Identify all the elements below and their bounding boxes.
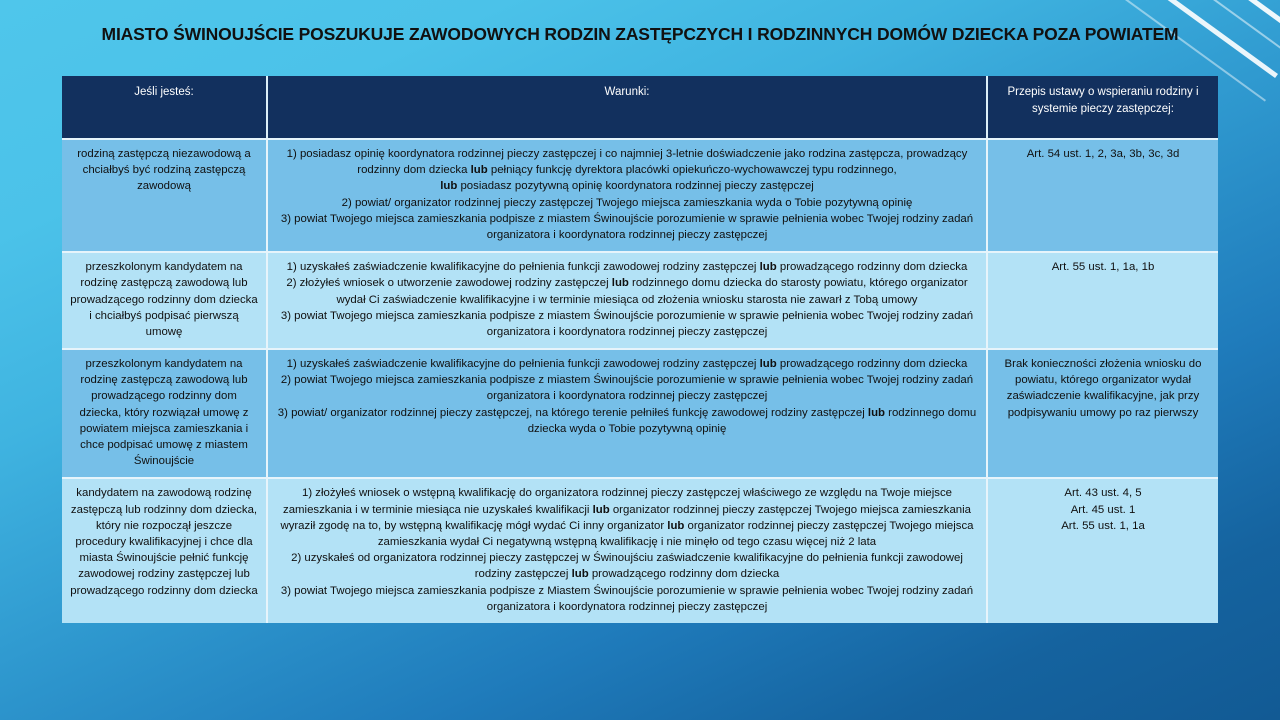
conditions-table: Jeśli jesteś: Warunki: Przepis ustawy o … (62, 76, 1218, 623)
table-body: rodziną zastępczą niezawodową a chciałby… (62, 138, 1218, 623)
condition-item: 3) powiat/ organizator rodzinnej pieczy … (276, 405, 978, 437)
condition-item: 2) powiat/ organizator rodzinnej pieczy … (276, 195, 978, 211)
condition-item: 3) powiat Twojego miejsca zamieszkania p… (276, 308, 978, 340)
cell-conditions: 1) uzyskałeś zaświadczenie kwalifikacyjn… (268, 348, 988, 477)
law-reference-line: Art. 55 ust. 1, 1a (996, 518, 1210, 534)
table-header: Jeśli jesteś: Warunki: Przepis ustawy o … (62, 76, 1218, 138)
condition-item: 1) uzyskałeś zaświadczenie kwalifikacyjn… (276, 259, 978, 275)
table-row: rodziną zastępczą niezawodową a chciałby… (62, 138, 1218, 251)
cell-who: przeszkolonym kandydatem na rodzinę zast… (62, 251, 268, 348)
table-row: przeszkolonym kandydatem na rodzinę zast… (62, 251, 1218, 348)
condition-item: 2) powiat Twojego miejsca zamieszkania p… (276, 372, 978, 404)
cell-who: rodziną zastępczą niezawodową a chciałby… (62, 138, 268, 251)
table-row: kandydatem na zawodową rodzinę zastępczą… (62, 477, 1218, 623)
cell-who: przeszkolonym kandydatem na rodzinę zast… (62, 348, 268, 477)
cell-conditions: 1) złożyłeś wniosek o wstępną kwalifikac… (268, 477, 988, 623)
condition-item: 1) uzyskałeś zaświadczenie kwalifikacyjn… (276, 356, 978, 372)
condition-item: 3) powiat Twojego miejsca zamieszkania p… (276, 583, 978, 615)
cell-law-reference: Brak konieczności złożenia wniosku do po… (988, 348, 1218, 477)
law-reference-line: Brak konieczności złożenia wniosku do po… (996, 356, 1210, 421)
cell-who: kandydatem na zawodową rodzinę zastępczą… (62, 477, 268, 623)
conditions-table-wrapper: Jeśli jesteś: Warunki: Przepis ustawy o … (62, 76, 1218, 623)
cell-conditions: 1) uzyskałeś zaświadczenie kwalifikacyjn… (268, 251, 988, 348)
law-reference-line: Art. 54 ust. 1, 2, 3a, 3b, 3c, 3d (996, 146, 1210, 162)
cell-conditions: 1) posiadasz opinię koordynatora rodzinn… (268, 138, 988, 251)
cell-law-reference: Art. 43 ust. 4, 5Art. 45 ust. 1Art. 55 u… (988, 477, 1218, 623)
condition-item: 1) złożyłeś wniosek o wstępną kwalifikac… (276, 485, 978, 550)
slide-canvas: MIASTO ŚWINOUJŚCIE POSZUKUJE ZAWODOWYCH … (0, 0, 1280, 720)
law-reference-line: Art. 43 ust. 4, 5 (996, 485, 1210, 501)
condition-item: 1) posiadasz opinię koordynatora rodzinn… (276, 146, 978, 178)
cell-law-reference: Art. 54 ust. 1, 2, 3a, 3b, 3c, 3d (988, 138, 1218, 251)
column-header-who: Jeśli jesteś: (62, 76, 268, 138)
conditions-list: 1) uzyskałeś zaświadczenie kwalifikacyjn… (276, 259, 978, 340)
condition-item: 2) uzyskałeś od organizatora rodzinnej p… (276, 550, 978, 582)
decorative-streak-icon (1042, 0, 1280, 12)
condition-item: 2) złożyłeś wniosek o utworzenie zawodow… (276, 275, 978, 307)
table-row: przeszkolonym kandydatem na rodzinę zast… (62, 348, 1218, 477)
cell-law-reference: Art. 55 ust. 1, 1a, 1b (988, 251, 1218, 348)
condition-item: lub posiadasz pozytywną opinię koordynat… (276, 178, 978, 194)
column-header-conditions: Warunki: (268, 76, 988, 138)
conditions-list: 1) uzyskałeś zaświadczenie kwalifikacyjn… (276, 356, 978, 437)
column-header-law: Przepis ustawy o wspieraniu rodziny i sy… (988, 76, 1218, 138)
conditions-list: 1) złożyłeś wniosek o wstępną kwalifikac… (276, 485, 978, 615)
table-header-row: Jeśli jesteś: Warunki: Przepis ustawy o … (62, 76, 1218, 138)
conditions-list: 1) posiadasz opinię koordynatora rodzinn… (276, 146, 978, 243)
page-title: MIASTO ŚWINOUJŚCIE POSZUKUJE ZAWODOWYCH … (40, 24, 1240, 44)
law-reference-line: Art. 55 ust. 1, 1a, 1b (996, 259, 1210, 275)
law-reference-line: Art. 45 ust. 1 (996, 502, 1210, 518)
condition-item: 3) powiat Twojego miejsca zamieszkania p… (276, 211, 978, 243)
